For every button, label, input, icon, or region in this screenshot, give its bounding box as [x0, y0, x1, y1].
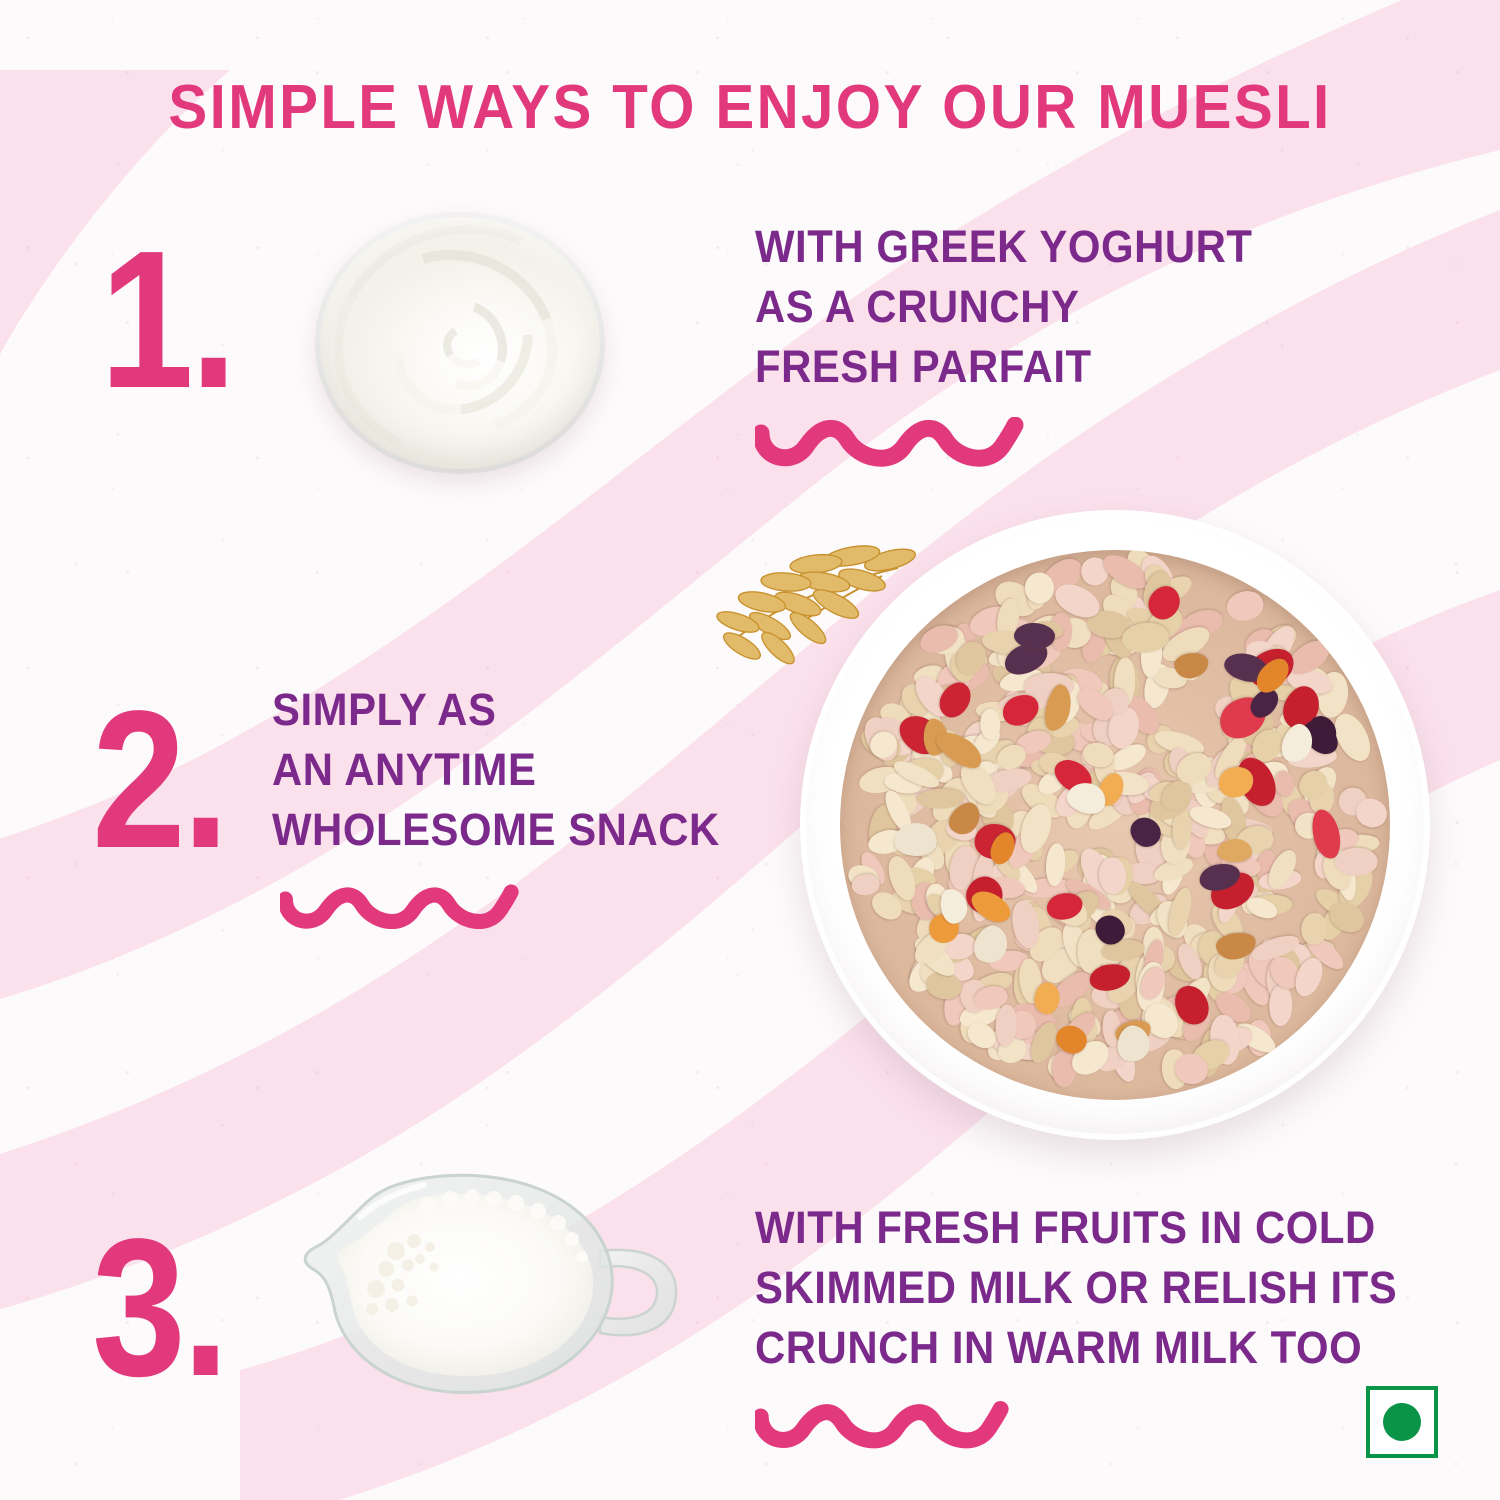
step-2-line-3: WHOLESOME SNACK: [272, 800, 720, 860]
greek-yoghurt-bowl-photo: [315, 212, 605, 474]
pink-wave-underline-3: [755, 1400, 1010, 1452]
poster-canvas: SIMPLE WAYS TO ENJOY OUR MUESLI 1. WITH …: [0, 0, 1500, 1500]
step-1-line-2: AS A CRUNCHY: [755, 277, 1253, 337]
step-1-number: 1.: [100, 240, 234, 401]
step-2-line-1: SIMPLY AS: [272, 680, 720, 740]
step-2-text: SIMPLY AS AN ANYTIME WHOLESOME SNACK: [272, 680, 720, 860]
step-1-line-1: WITH GREEK YOGHURT: [755, 217, 1253, 277]
vegetarian-mark-dot: [1383, 1403, 1421, 1441]
milk-jug-photo: [300, 1155, 690, 1410]
step-3-line-3: CRUNCH IN WARM MILK TOO: [755, 1318, 1397, 1378]
step-3-line-1: WITH FRESH FRUITS IN COLD: [755, 1198, 1397, 1258]
step-1-line-3: FRESH PARFAIT: [755, 337, 1253, 397]
vegetarian-mark: [1366, 1386, 1438, 1458]
pink-wave-underline-2: [280, 882, 520, 934]
page-title: SIMPLE WAYS TO ENJOY OUR MUESLI: [45, 72, 1455, 143]
step-3-text: WITH FRESH FRUITS IN COLD SKIMMED MILK O…: [755, 1198, 1397, 1378]
step-3-number: 3.: [92, 1228, 226, 1389]
step-1-text: WITH GREEK YOGHURT AS A CRUNCHY FRESH PA…: [755, 217, 1253, 397]
step-3-line-2: SKIMMED MILK OR RELISH ITS: [755, 1258, 1397, 1318]
step-2-line-2: AN ANYTIME: [272, 740, 720, 800]
step-2-number: 2.: [92, 700, 226, 861]
pink-wave-underline-1: [755, 417, 1025, 469]
muesli-bowl-photo: [800, 510, 1430, 1140]
